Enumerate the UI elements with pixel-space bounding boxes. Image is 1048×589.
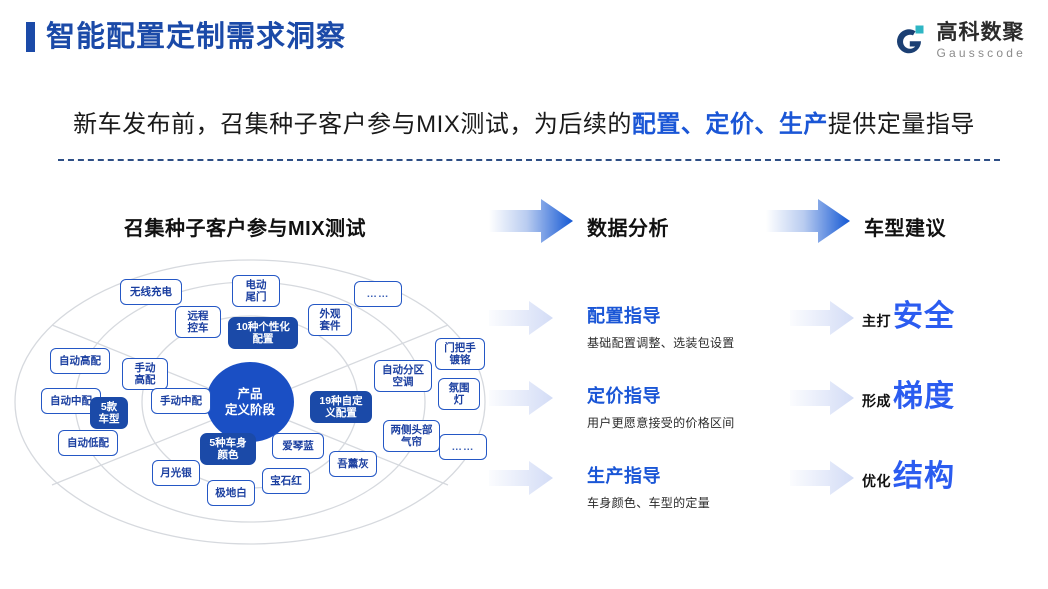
product-definition-diagram: 产品 定义阶段 无线充电电动 尾门……远程 控车10种个性化 配置外观 套件门把… [10,255,490,545]
diagram-node: 外观 套件 [308,304,352,336]
section-divider [58,159,1000,161]
advice-keyword: 梯度 [893,382,955,412]
header-arrow-2-icon [766,199,850,243]
subtitle: 新车发布前，召集种子客户参与MIX测试，为后续的配置、定价、生产提供定量指导 [0,104,1048,139]
brand-logo-text: 高科数聚 Gausscode [936,22,1026,59]
row-arrow-right-3-icon [790,461,854,495]
subtitle-part1: 新车发布前，召集种子客户参与MIX测试，为后续的 [73,111,632,138]
diagram-node: 两侧头部 气帘 [383,420,440,452]
column-header-data-analysis: 数据分析 [587,212,669,241]
analysis-row-pricing: 定价指导 用户更愿意接受的价格区间 [587,382,797,431]
diagram-node: 自动分区 空调 [374,360,432,392]
diagram-node: 远程 控车 [175,306,221,338]
row-arrow-left-3-icon [489,461,553,495]
advice-keyword: 结构 [893,462,955,492]
page-title: 智能配置定制需求洞察 [46,18,346,56]
diagram-node: …… [439,434,487,460]
row-arrow-right-1-icon [790,301,854,335]
row-arrow-left-2-icon [489,381,553,415]
column-header-mix-test: 召集种子客户参与MIX测试 [124,212,366,241]
advice-prefix: 主打 [862,311,891,331]
diagram-node: 门把手 镀铬 [435,338,485,370]
analysis-subtitle: 用户更愿意接受的价格区间 [587,414,797,431]
analysis-subtitle: 车身颜色、车型的定量 [587,494,797,511]
advice-keyword: 安全 [893,302,955,332]
diagram-node: 无线充电 [120,279,182,305]
advice-prefix: 优化 [862,471,891,491]
diagram-node: 19种自定 义配置 [310,391,372,423]
column-header-model-advice: 车型建议 [864,212,946,241]
advice-row-tier: 形成 梯度 [862,382,955,412]
brand-logo: 高科数聚 Gausscode [891,18,1026,62]
brand-name-en: Gausscode [936,47,1026,59]
row-arrow-left-1-icon [489,301,553,335]
diagram-node: 5种车身 颜色 [200,433,256,465]
analysis-title: 生产指导 [587,462,797,488]
diagram-node: 手动中配 [151,388,211,414]
diagram-node: 氛围 灯 [438,378,480,410]
diagram-node: 10种个性化 配置 [228,317,298,349]
analysis-row-production: 生产指导 车身颜色、车型的定量 [587,462,797,511]
diagram-node: 极地白 [207,480,255,506]
diagram-node: 宝石红 [262,468,310,494]
advice-row-structure: 优化 结构 [862,462,955,492]
advice-prefix: 形成 [862,391,891,411]
gausscode-logo-mark-icon [891,23,927,57]
analysis-title: 配置指导 [587,302,797,328]
row-arrow-right-2-icon [790,381,854,415]
diagram-node: 吾薰灰 [329,451,377,477]
diagram-node: 自动低配 [58,430,118,456]
diagram-node: 电动 尾门 [232,275,280,307]
title-accent-bar [26,22,35,52]
brand-name-cn: 高科数聚 [936,22,1026,43]
diagram-node: 自动高配 [50,348,110,374]
slide-header: 智能配置定制需求洞察 高科数聚 Gausscode [0,0,1048,72]
diagram-node: 月光银 [152,460,200,486]
header-arrow-1-icon [489,199,573,243]
diagram-node: …… [354,281,402,307]
analysis-title: 定价指导 [587,382,797,408]
diagram-node: 5款 车型 [90,397,128,429]
subtitle-part2: 提供定量指导 [828,111,975,138]
analysis-row-configuration: 配置指导 基础配置调整、选装包设置 [587,302,797,351]
analysis-subtitle: 基础配置调整、选装包设置 [587,334,797,351]
advice-row-safety: 主打 安全 [862,302,955,332]
diagram-center-node: 产品 定义阶段 [206,362,294,442]
subtitle-highlight: 配置、定价、生产 [632,111,828,138]
diagram-node: 爱琴蓝 [272,433,324,459]
diagram-node: 手动 高配 [122,358,168,390]
